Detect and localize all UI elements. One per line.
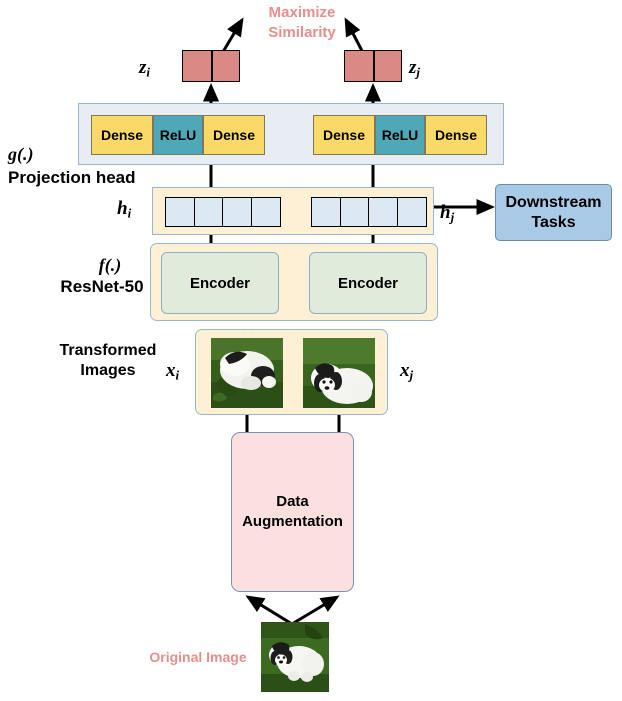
dense-layer-1-right: Dense — [313, 115, 375, 155]
downstream-line-2: Tasks — [531, 214, 575, 231]
h-j-symbol: h — [440, 202, 451, 223]
h-i-cell — [194, 197, 224, 227]
downstream-tasks-box[interactable]: Downstream Tasks — [495, 184, 612, 241]
x-j-label: xj — [400, 360, 413, 384]
z-i-divider — [211, 51, 213, 81]
projection-head-right-branch: Dense ReLU Dense — [313, 115, 487, 155]
resnet50-label: ResNet-50 — [46, 277, 158, 297]
h-i-subscript: i — [128, 206, 132, 221]
z-i-subscript: i — [146, 65, 150, 80]
h-i-symbol: h — [117, 198, 128, 219]
simclr-framework-diagram: Maximize Similarity zi zj Dense ReLU Den… — [0, 0, 622, 701]
x-i-symbol: x — [166, 360, 176, 381]
f-function-label: f(.) — [62, 255, 158, 276]
relu-layer-left: ReLU — [153, 115, 203, 155]
transformed-image-xi — [211, 338, 283, 408]
maximize-similarity-label: Maximize Similarity — [237, 3, 367, 44]
h-j-cell — [311, 197, 341, 227]
z-j-divider — [373, 51, 375, 81]
dense-layer-2-right: Dense — [425, 115, 487, 155]
data-augmentation-line-1: Data — [276, 493, 309, 510]
encoder-right: Encoder — [309, 252, 427, 314]
encoder-container: Encoder Encoder — [150, 243, 438, 321]
projection-head-label: Projection head — [8, 168, 158, 188]
data-augmentation-text: Data Augmentation — [242, 492, 343, 533]
h-j-subscript: j — [451, 210, 455, 225]
h-j-cell — [397, 197, 427, 227]
h-i-cell — [222, 197, 252, 227]
encoder-left: Encoder — [161, 252, 279, 314]
xj-thumbnail-art — [303, 338, 375, 408]
h-i-cell — [165, 197, 195, 227]
transformed-image-xj — [303, 338, 375, 408]
arrow-original-to-augmentation-left — [248, 597, 292, 624]
z-j-label: zj — [409, 57, 420, 81]
xi-thumbnail-art — [211, 338, 283, 408]
z-j-vector-box — [344, 50, 402, 82]
x-i-label: xi — [166, 360, 179, 384]
transformed-images-container — [195, 329, 388, 415]
h-i-label: hi — [117, 198, 131, 222]
h-i-cells — [165, 197, 279, 227]
arrow-original-to-augmentation-right — [292, 597, 337, 624]
relu-layer-right: ReLU — [375, 115, 425, 155]
x-i-subscript: i — [176, 368, 180, 383]
original-image-label: Original Image — [118, 649, 278, 665]
z-i-label: zi — [139, 57, 150, 81]
z-i-vector-box — [182, 50, 240, 82]
h-j-cell — [368, 197, 398, 227]
downstream-tasks-text: Downstream Tasks — [505, 193, 601, 231]
g-function-label: g(.) — [8, 144, 148, 165]
h-i-cell — [251, 197, 281, 227]
x-j-symbol: x — [400, 360, 410, 381]
data-augmentation-line-2: Augmentation — [242, 513, 343, 530]
transformed-images-label: Transformed Images — [38, 341, 178, 381]
dense-layer-2-left: Dense — [203, 115, 265, 155]
x-j-subscript: j — [410, 368, 414, 383]
h-j-label: hj — [440, 202, 454, 226]
h-j-cell — [340, 197, 370, 227]
representation-layer-container — [152, 187, 434, 235]
z-j-subscript: j — [416, 65, 420, 80]
data-augmentation-box: Data Augmentation — [231, 432, 354, 592]
downstream-line-1: Downstream — [505, 194, 601, 211]
h-j-cells — [311, 197, 425, 227]
